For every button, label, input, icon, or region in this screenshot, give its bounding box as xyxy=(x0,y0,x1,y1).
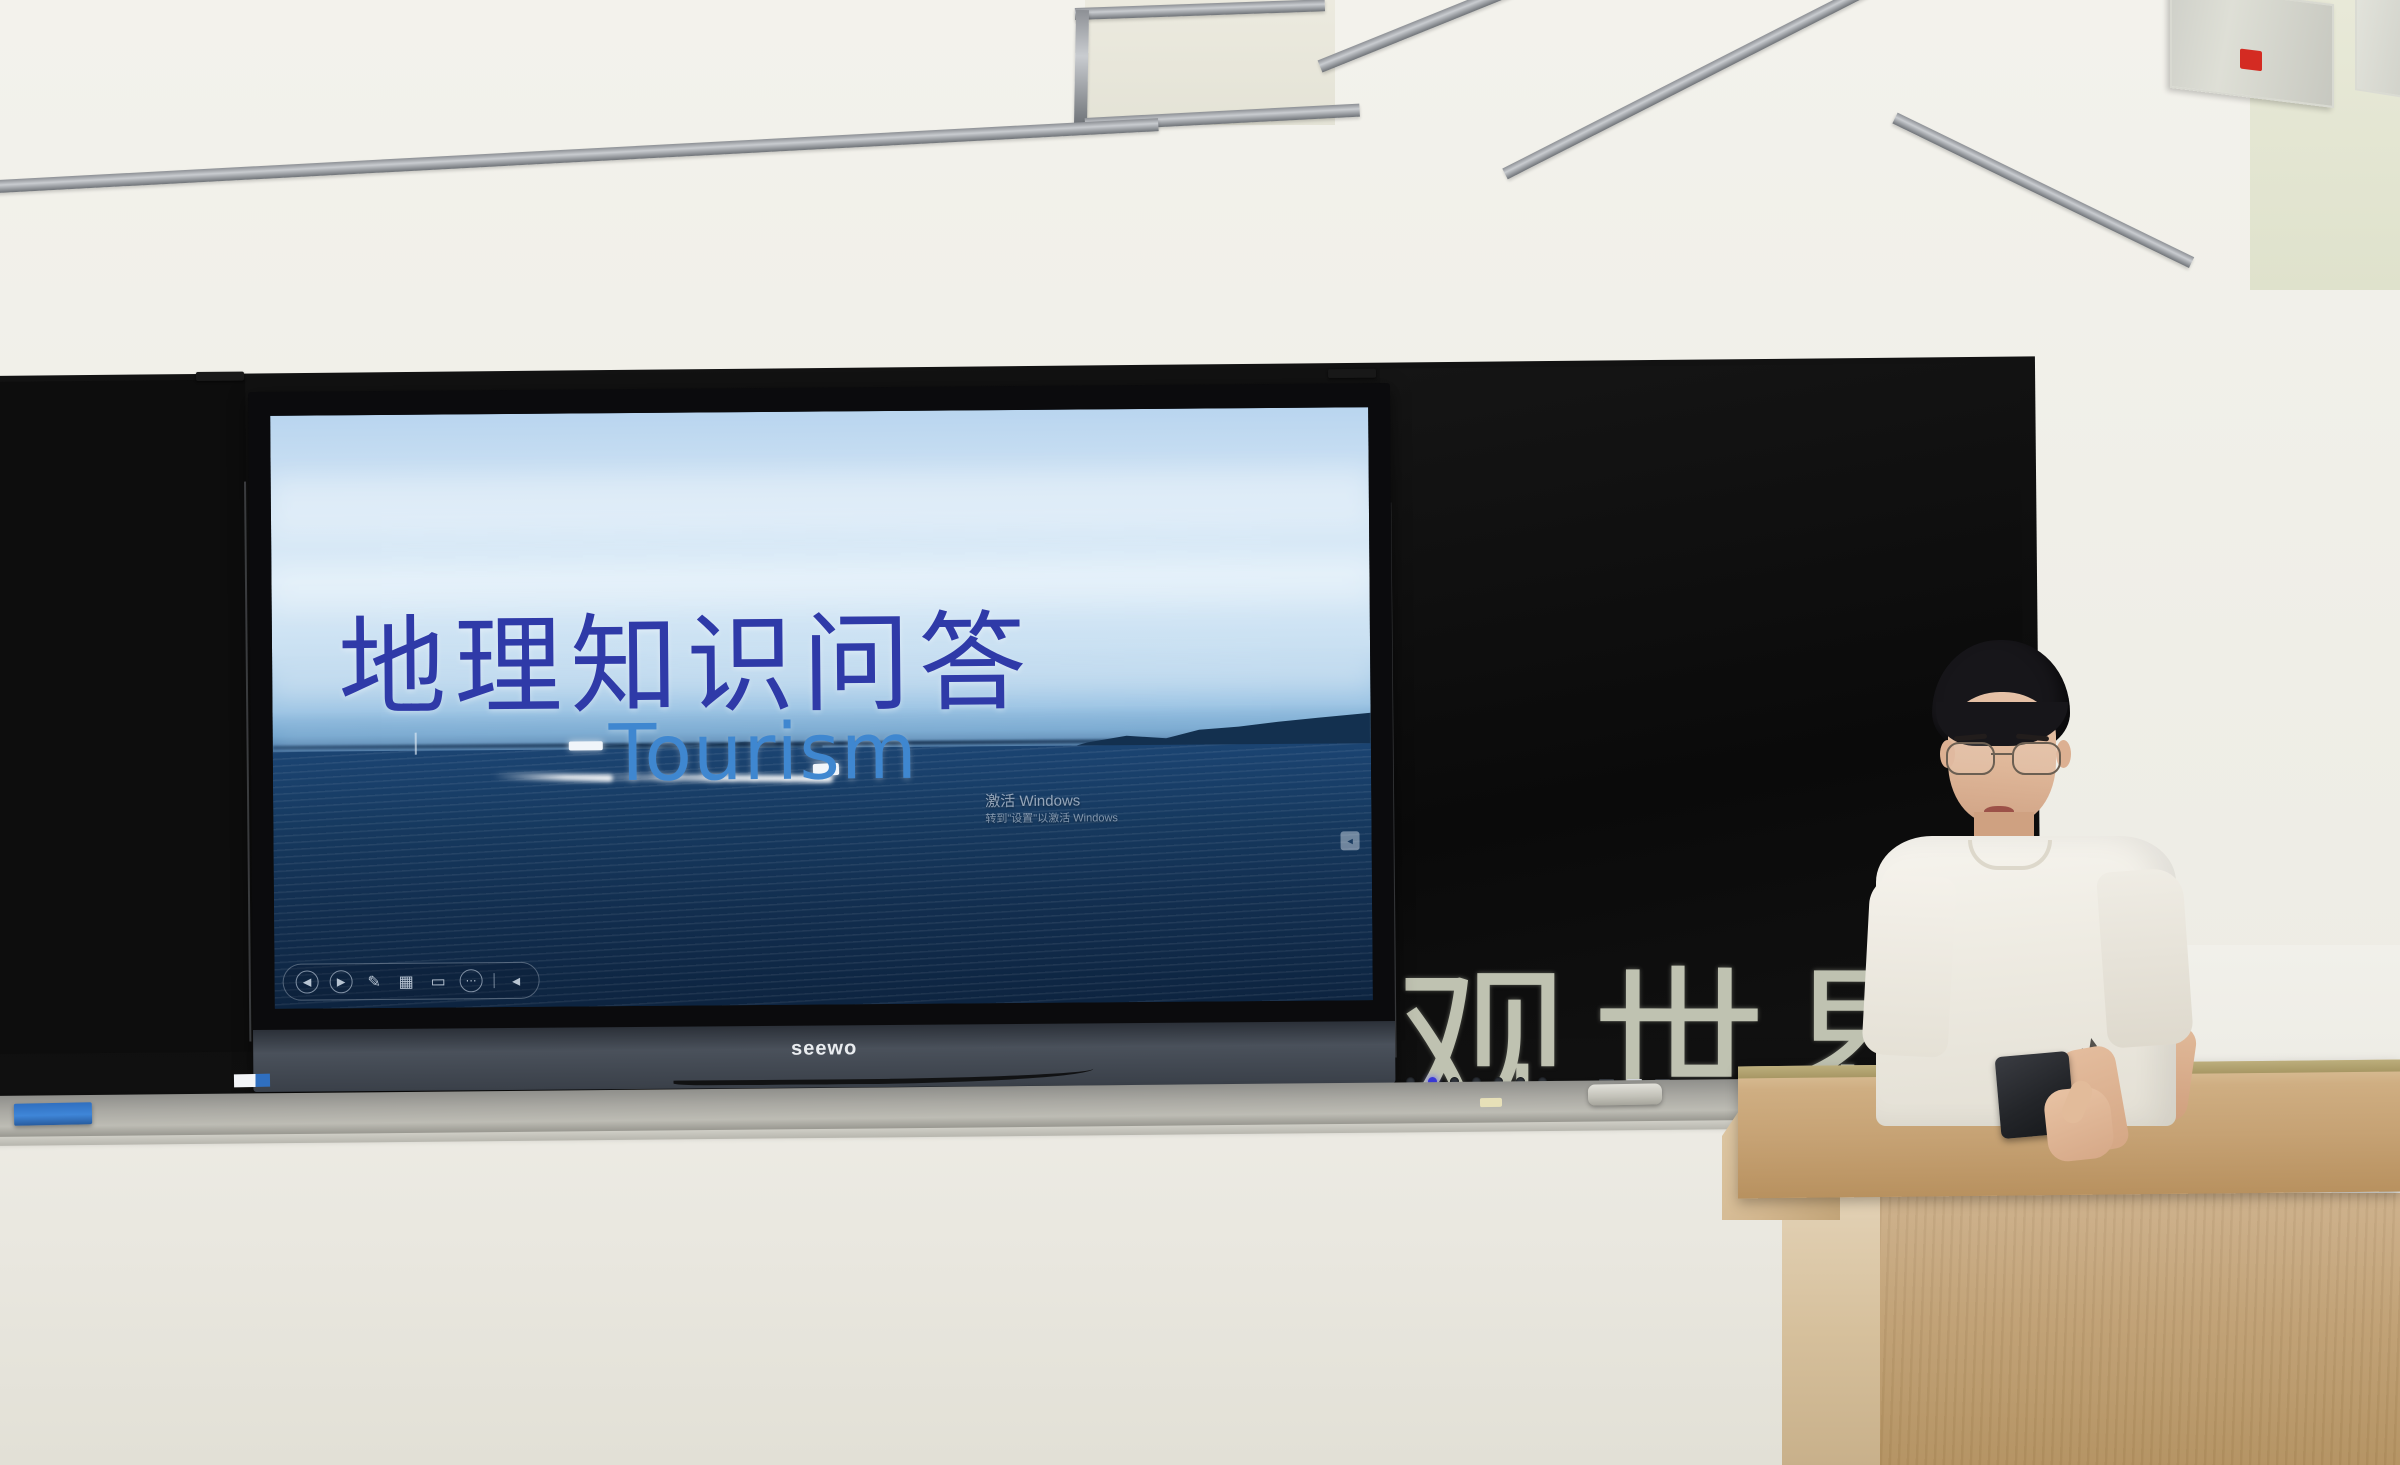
next-slide-icon[interactable]: ▶ xyxy=(330,970,353,993)
sleeve-right xyxy=(2096,867,2194,1049)
watermark-line-1: 激活 Windows xyxy=(985,791,1118,812)
cloud-band xyxy=(271,467,1369,536)
blackboard-left-panel xyxy=(0,380,251,1054)
board-clip-right xyxy=(1328,369,1376,378)
glasses-icon xyxy=(1946,742,2058,772)
podium-body xyxy=(1880,1193,2400,1465)
boat xyxy=(569,741,603,750)
seewo-brand-label: seewo xyxy=(791,1037,857,1061)
board-clip-left xyxy=(196,372,244,381)
lens-left xyxy=(1946,742,1995,775)
pen-icon[interactable]: ✎ xyxy=(364,971,385,992)
previous-slide-icon[interactable]: ◀ xyxy=(296,970,319,993)
toolbar-separator xyxy=(494,973,495,988)
collapse-toolbar-icon[interactable]: ◂ xyxy=(506,970,527,991)
wall-speaker-secondary xyxy=(2355,0,2400,102)
display-bezel-bottom: seewo xyxy=(253,1021,1395,1092)
lens-right xyxy=(2012,742,2061,775)
watermark-line-2: 转到"设置"以激活 Windows xyxy=(985,811,1118,827)
grey-eraser[interactable] xyxy=(1588,1083,1662,1105)
display-cable xyxy=(673,1059,1093,1085)
display-screen[interactable]: 地理知识问答 Tourism 激活 Windows 转到"设置"以激活 Wind… xyxy=(270,407,1373,1009)
ledge-label-tag xyxy=(234,1074,270,1088)
windows-activation-watermark: 激活 Windows 转到"设置"以激活 Windows xyxy=(985,791,1118,827)
sleeve-left xyxy=(1861,874,1956,1058)
presentation-slide[interactable]: 地理知识问答 Tourism 激活 Windows 转到"设置"以激活 Wind… xyxy=(270,407,1373,1009)
screen-icon[interactable]: ▭ xyxy=(428,970,449,991)
grid-icon[interactable]: ▦ xyxy=(396,971,417,992)
classroom-scene: 观世界 地理知识问答 Tourism 激活 W xyxy=(0,0,2400,1465)
slide-nav-left-icon[interactable]: ◂ xyxy=(1340,831,1359,850)
ceiling-trim-vertical xyxy=(1074,10,1089,125)
more-options-icon[interactable]: ⋯ xyxy=(460,969,483,992)
interactive-display[interactable]: 地理知识问答 Tourism 激活 Windows 转到"设置"以激活 Wind… xyxy=(248,383,1395,1092)
speaker-badge-icon xyxy=(2240,49,2262,72)
glasses-bridge xyxy=(1991,753,2012,755)
blue-eraser[interactable] xyxy=(14,1102,92,1126)
podium-side-panel xyxy=(1782,1193,1886,1465)
presenter-toolbar[interactable]: ◀ ▶ ✎ ▦ ▭ ⋯ ◂ xyxy=(282,962,539,1001)
slide-subtitle: Tourism xyxy=(609,707,919,799)
chalk-stick[interactable] xyxy=(1480,1098,1502,1107)
